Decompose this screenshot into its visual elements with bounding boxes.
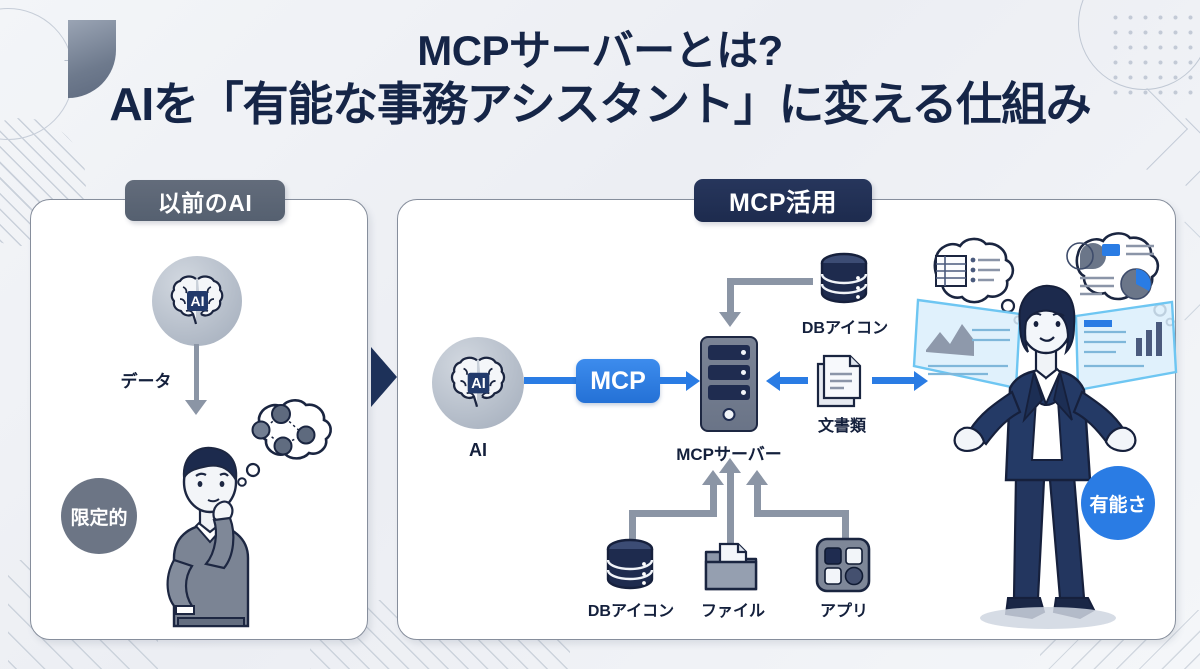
- arrow-file-head: [719, 458, 741, 473]
- database-icon-top: [817, 252, 871, 308]
- server-bay-2: [708, 365, 750, 380]
- server-bay-3: [708, 385, 750, 400]
- panel-badge-previous-ai: 以前のAI: [125, 180, 285, 221]
- title-line-2: AIを「有能な事務アシスタント」に変える仕組み: [0, 77, 1200, 131]
- arrow-db-bottom-riser: [710, 483, 717, 513]
- arrow-db-top-head: [719, 312, 741, 327]
- arrow-db-bottom-horizontal: [629, 510, 717, 517]
- arrow-app-horizontal: [754, 510, 849, 517]
- hologram-left: [914, 300, 1020, 388]
- transition-arrow-icon: [371, 347, 397, 407]
- ai-brain-node-mcp: AI: [432, 337, 524, 429]
- arrow-db-top-vertical: [727, 278, 734, 316]
- ai-brain-node-previous: AI: [152, 256, 242, 346]
- file-label: ファイル: [694, 597, 772, 621]
- mcp-protocol-chip: MCP: [576, 359, 660, 403]
- ai-chip-text-previous: AI: [191, 293, 205, 309]
- server-bay-1: [708, 345, 750, 360]
- ai-node-label: AI: [440, 440, 516, 461]
- arrow-doc-to-server-line: [780, 377, 808, 384]
- ai-chip-text-mcp: AI: [471, 376, 485, 392]
- mcp-server-icon: [700, 336, 758, 432]
- panel-badge-mcp-usage: MCP活用: [694, 179, 872, 222]
- arrow-mcp-to-server-line: [660, 377, 688, 384]
- database-icon-bottom: [603, 538, 657, 594]
- data-flow-label: データ: [108, 367, 184, 392]
- app-label: アプリ: [812, 597, 876, 621]
- status-badge-capable: 有能さ: [1081, 466, 1155, 540]
- title-line-1: MCPサーバーとは?: [0, 28, 1200, 73]
- data-flow-line-previous: [194, 344, 199, 406]
- brain-icon: AI: [165, 271, 229, 331]
- brain-icon: AI: [445, 352, 511, 414]
- folder-icon: [702, 538, 760, 594]
- arrow-db-top-horizontal: [727, 278, 813, 285]
- arrow-mcp-to-server-head: [686, 371, 700, 391]
- arrow-doc-to-server-head: [766, 371, 780, 391]
- hologram-right: [1076, 302, 1176, 390]
- documents-icon: [814, 352, 866, 410]
- documents-label: 文書類: [808, 412, 876, 436]
- thinking-man-illustration: [130, 430, 290, 628]
- arrow-ai-to-mcp-line: [524, 377, 578, 384]
- app-grid-icon: [814, 536, 872, 594]
- db-bottom-label: DBアイコン: [575, 597, 687, 621]
- arrow-app-head: [746, 470, 768, 485]
- data-flow-arrowhead-previous: [185, 400, 207, 415]
- status-badge-limited: 限定的: [61, 478, 137, 554]
- arrow-app-riser: [754, 483, 761, 513]
- page-title: MCPサーバーとは? AIを「有能な事務アシスタント」に変える仕組み: [0, 28, 1200, 132]
- arrow-file-vertical: [727, 470, 734, 546]
- db-top-label: DBアイコン: [789, 314, 901, 338]
- business-woman-illustration: [908, 280, 1180, 632]
- server-power-button-icon: [723, 408, 736, 421]
